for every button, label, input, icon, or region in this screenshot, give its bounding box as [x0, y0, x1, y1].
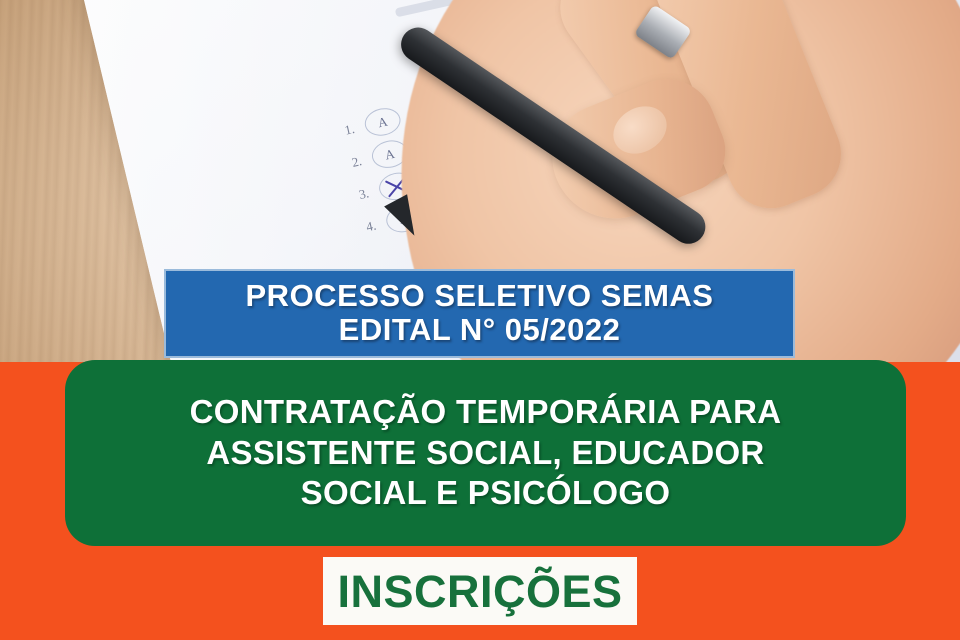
blue-title-banner: PROCESSO SELETIVO SEMAS EDITAL N° 05/202… — [164, 269, 795, 358]
green-description-box: CONTRATAÇÃO TEMPORÁRIA PARA ASSISTENTE S… — [65, 360, 906, 546]
bubble-row-number: 1. — [331, 120, 356, 140]
bubble-row-number: 4. — [353, 217, 378, 237]
bubble-row-number: 2. — [338, 153, 363, 173]
inscricoes-box: INSCRIÇÕES — [323, 557, 637, 625]
inscricoes-label: INSCRIÇÕES — [337, 569, 622, 614]
banner-line-2: EDITAL N° 05/2022 — [339, 314, 621, 347]
banner-line-1: PROCESSO SELETIVO SEMAS — [246, 280, 714, 313]
green-line-3: SOCIAL E PSICÓLOGO — [301, 474, 671, 513]
bubble-row-number: 3. — [345, 185, 370, 205]
green-line-1: CONTRATAÇÃO TEMPORÁRIA PARA — [190, 393, 782, 432]
green-line-2: ASSISTENTE SOCIAL, EDUCADOR — [206, 434, 764, 473]
poster-root: 1. A B C D 2. A B C D 3. A B C — [0, 0, 960, 640]
